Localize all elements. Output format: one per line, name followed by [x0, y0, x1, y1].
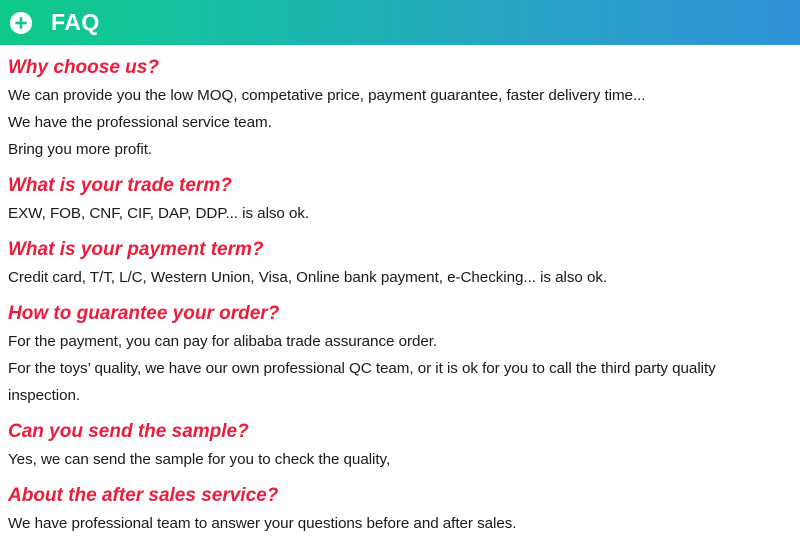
faq-answer: Yes, we can send the sample for you to c… [8, 446, 794, 473]
faq-question: What is your payment term? [8, 227, 794, 264]
faq-answer: For the toys’ quality, we have our own p… [8, 355, 794, 409]
plus-circle-icon [10, 12, 32, 34]
page-title: FAQ [51, 11, 100, 34]
faq-item: About the after sales service? We have p… [8, 473, 794, 537]
faq-answer: We have the professional service team. [8, 109, 794, 136]
faq-item: Can you send the sample? Yes, we can sen… [8, 409, 794, 473]
faq-question: How to guarantee your order? [8, 291, 794, 328]
faq-question: What is your trade term? [8, 163, 794, 200]
faq-item: Why choose us? We can provide you the lo… [8, 45, 794, 163]
faq-item: How to guarantee your order? For the pay… [8, 291, 794, 409]
faq-header-bar: FAQ [0, 0, 800, 45]
faq-answer: We have professional team to answer your… [8, 510, 794, 537]
faq-question: Can you send the sample? [8, 409, 794, 446]
faq-page: FAQ Why choose us? We can provide you th… [0, 0, 800, 556]
faq-answer: For the payment, you can pay for alibaba… [8, 328, 794, 355]
faq-answer: Credit card, T/T, L/C, Western Union, Vi… [8, 264, 794, 291]
faq-answer: EXW, FOB, CNF, CIF, DAP, DDP... is also … [8, 200, 794, 227]
faq-question: Why choose us? [8, 45, 794, 82]
faq-item: What is your payment term? Credit card, … [8, 227, 794, 291]
faq-answer: Bring you more profit. [8, 136, 794, 163]
faq-item: What is your trade term? EXW, FOB, CNF, … [8, 163, 794, 227]
faq-answer: We can provide you the low MOQ, competat… [8, 82, 794, 109]
faq-list: Why choose us? We can provide you the lo… [0, 45, 800, 537]
faq-question: About the after sales service? [8, 473, 794, 510]
